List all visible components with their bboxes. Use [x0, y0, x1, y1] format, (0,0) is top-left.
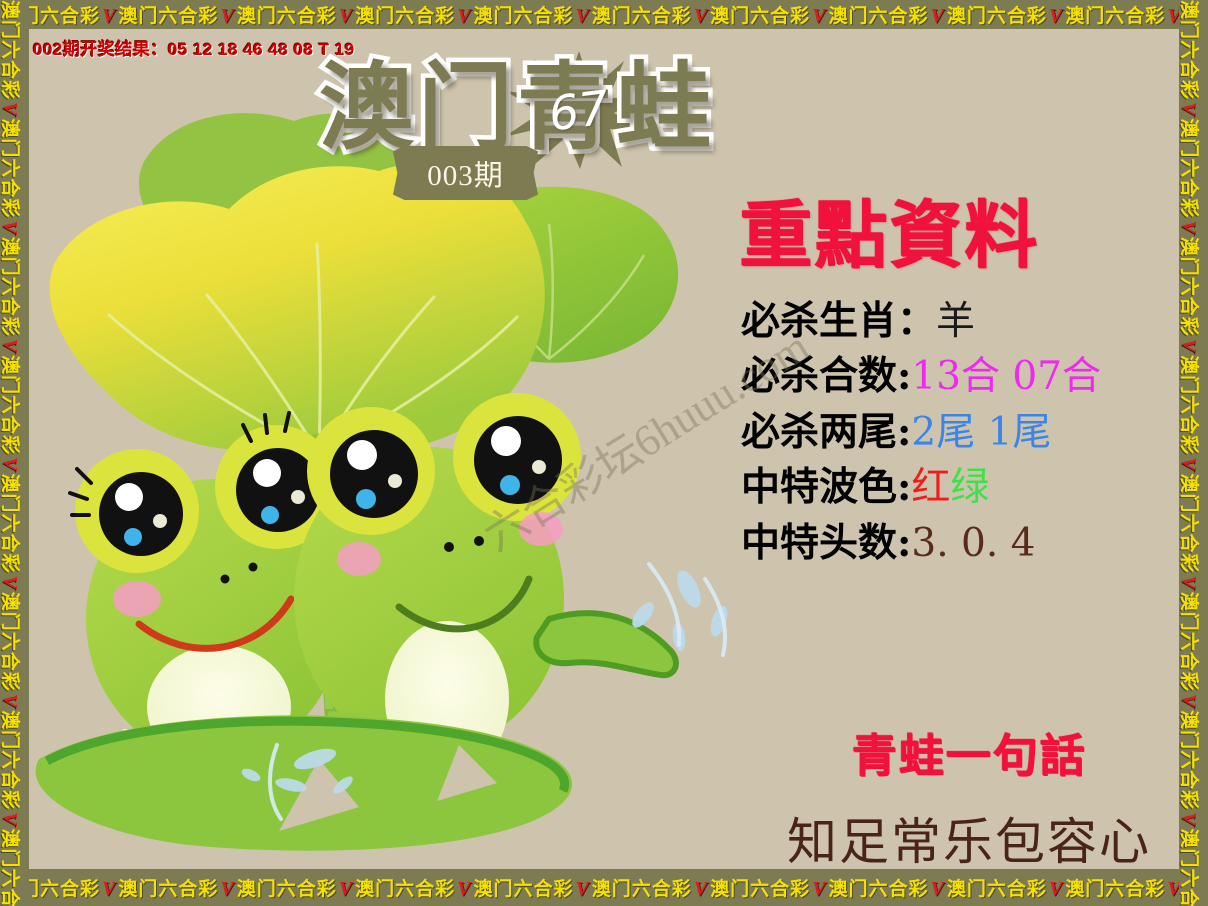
border-unit-text: 澳门六合彩: [118, 879, 218, 900]
border-left-text: 澳门六合彩V澳门六合彩V澳门六合彩V澳门六合彩V澳门六合彩V澳门六合彩V澳门六合…: [0, 0, 25, 906]
draw-result-line: 002期开奖结果：05 12 18 46 48 08 T 19: [33, 35, 355, 60]
border-separator: V: [337, 5, 355, 27]
border-bottom-text: 澳门六合彩V澳门六合彩V澳门六合彩V澳门六合彩V澳门六合彩V澳门六合彩V澳门六合…: [0, 874, 1208, 901]
border-unit-text: 澳门六合彩: [1179, 710, 1199, 810]
border-separator: V: [0, 455, 21, 473]
border-separator: V: [1179, 100, 1200, 118]
badge-number: 67: [546, 81, 612, 143]
border-unit-text: 澳门六合彩: [947, 6, 1047, 27]
border-separator: V: [100, 878, 118, 900]
border-separator: V: [692, 5, 710, 27]
info-row-label: 必杀两尾:: [741, 409, 911, 455]
border-unit-text: 澳门六合彩: [0, 710, 20, 810]
info-row-value-part: 绿: [950, 465, 989, 510]
border-unit-text: 澳门六合彩: [355, 6, 455, 27]
border-unit-text: 澳门六合彩: [237, 879, 337, 900]
border-separator: V: [1047, 878, 1065, 900]
border-separator: V: [1179, 573, 1200, 591]
border-separator: V: [1179, 810, 1200, 828]
border-unit-text: 澳门六合彩: [829, 879, 929, 900]
border-separator: V: [929, 5, 947, 27]
border-top: 澳门六合彩V澳门六合彩V澳门六合彩V澳门六合彩V澳门六合彩V澳门六合彩V澳门六合…: [0, 0, 1208, 29]
border-unit-text: 澳门六合彩: [1179, 118, 1199, 218]
border-separator: V: [0, 692, 21, 710]
border-separator: V: [810, 878, 828, 900]
poster-canvas: 002期开奖结果：05 12 18 46 48 08 T 19: [29, 29, 1179, 869]
border-unit-text: 澳门六合彩: [592, 6, 692, 27]
info-row-label: 中特波色:: [741, 464, 911, 510]
border-separator: V: [1179, 337, 1200, 355]
border-bottom: 澳门六合彩V澳门六合彩V澳门六合彩V澳门六合彩V澳门六合彩V澳门六合彩V澳门六合…: [0, 869, 1208, 906]
issue-label: 003期: [393, 146, 538, 200]
frog-illustration: [29, 59, 749, 869]
border-unit-text: 澳门六合彩: [1179, 592, 1199, 692]
border-unit-text: 澳门六合彩: [1179, 473, 1199, 573]
bottom-block: 青蛙一句話 知足常乐包容心: [754, 719, 1179, 869]
border-separator: V: [218, 878, 236, 900]
border-unit-text: 澳门六合彩: [0, 473, 20, 573]
border-separator: V: [1179, 455, 1200, 473]
border-unit-text: 澳门六合彩: [592, 879, 692, 900]
border-separator: V: [218, 5, 236, 27]
border-separator: V: [0, 573, 21, 591]
border-separator: V: [573, 878, 591, 900]
page-title: 澳门青蛙: [319, 59, 715, 159]
panel-headline: 重點資料: [739, 199, 1179, 272]
border-unit-text: 澳门六合彩: [0, 592, 20, 692]
border-separator: V: [1179, 218, 1200, 236]
info-row: 中特波色:红绿: [741, 460, 1179, 515]
border-separator: V: [100, 5, 118, 27]
bottom-phrase: 知足常乐包容心: [754, 802, 1179, 869]
border-unit-text: 澳门六合彩: [473, 879, 573, 900]
border-separator: V: [0, 810, 21, 828]
border-unit-text: 澳门六合彩: [1179, 355, 1199, 455]
border-separator: V: [455, 5, 473, 27]
border-unit-text: 澳门六合彩: [1179, 829, 1199, 906]
border-right: 澳门六合彩V澳门六合彩V澳门六合彩V澳门六合彩V澳门六合彩V澳门六合彩V澳门六合…: [1179, 0, 1208, 906]
title-block: 澳门青蛙: [319, 59, 715, 159]
bottom-title: 青蛙一句話: [754, 719, 1179, 784]
border-unit-text: 澳门六合彩: [355, 879, 455, 900]
border-unit-text: 澳门六合彩: [0, 237, 20, 337]
border-unit-text: 澳门六合彩: [0, 118, 20, 218]
info-row-label: 必杀生肖：: [741, 298, 936, 344]
border-unit-text: 澳门六合彩: [0, 829, 20, 906]
info-row-value: 13合 07合: [911, 354, 1101, 399]
border-unit-text: 澳门六合彩: [0, 355, 20, 455]
issue-banner: 003期: [393, 146, 538, 200]
info-rows: 必杀生肖：羊必杀合数:13合 07合必杀两尾:2尾 1尾中特波色:红绿中特头数:…: [741, 294, 1179, 571]
info-row-value: 2尾 1尾: [911, 410, 1051, 455]
info-row-label: 中特头数:: [741, 520, 911, 566]
border-separator: V: [573, 5, 591, 27]
border-right-text: 澳门六合彩V澳门六合彩V澳门六合彩V澳门六合彩V澳门六合彩V澳门六合彩V澳门六合…: [1179, 0, 1204, 906]
info-row-value-part: 红: [911, 465, 950, 510]
info-row: 中特头数:3. 0. 4: [741, 516, 1179, 571]
border-separator: V: [0, 218, 21, 236]
border-unit-text: 澳门六合彩: [710, 879, 810, 900]
border-separator: V: [1179, 692, 1200, 710]
border-separator: V: [337, 878, 355, 900]
border-unit-text: 澳门六合彩: [947, 879, 1047, 900]
border-unit-text: 澳门六合彩: [710, 6, 810, 27]
border-separator: V: [0, 337, 21, 355]
border-top-text: 澳门六合彩V澳门六合彩V澳门六合彩V澳门六合彩V澳门六合彩V澳门六合彩V澳门六合…: [0, 1, 1208, 28]
border-unit-text: 澳门六合彩: [1065, 879, 1165, 900]
poster: 澳门六合彩V澳门六合彩V澳门六合彩V澳门六合彩V澳门六合彩V澳门六合彩V澳门六合…: [0, 0, 1208, 906]
border-separator: V: [692, 878, 710, 900]
border-unit-text: 澳门六合彩: [1179, 0, 1199, 100]
info-row: 必杀合数:13合 07合: [741, 349, 1179, 404]
border-unit-text: 澳门六合彩: [237, 6, 337, 27]
border-separator: V: [0, 100, 21, 118]
border-separator: V: [455, 878, 473, 900]
border-unit-text: 澳门六合彩: [1179, 237, 1199, 337]
info-row-value: 3. 0. 4: [911, 521, 1035, 566]
info-row-value: 羊: [936, 299, 975, 344]
border-unit-text: 澳门六合彩: [118, 6, 218, 27]
border-unit-text: 澳门六合彩: [829, 6, 929, 27]
border-unit-text: 澳门六合彩: [0, 0, 20, 100]
info-row: 必杀两尾:2尾 1尾: [741, 405, 1179, 460]
border-separator: V: [1047, 5, 1065, 27]
border-unit-text: 澳门六合彩: [473, 6, 573, 27]
info-row: 必杀生肖：羊: [741, 294, 1179, 349]
border-left: 澳门六合彩V澳门六合彩V澳门六合彩V澳门六合彩V澳门六合彩V澳门六合彩V澳门六合…: [0, 0, 29, 906]
info-row-label: 必杀合数:: [741, 353, 911, 399]
border-separator: V: [929, 878, 947, 900]
border-separator: V: [810, 5, 828, 27]
border-unit-text: 澳门六合彩: [1065, 6, 1165, 27]
info-panel: 重點資料 必杀生肖：羊必杀合数:13合 07合必杀两尾:2尾 1尾中特波色:红绿…: [729, 199, 1179, 571]
